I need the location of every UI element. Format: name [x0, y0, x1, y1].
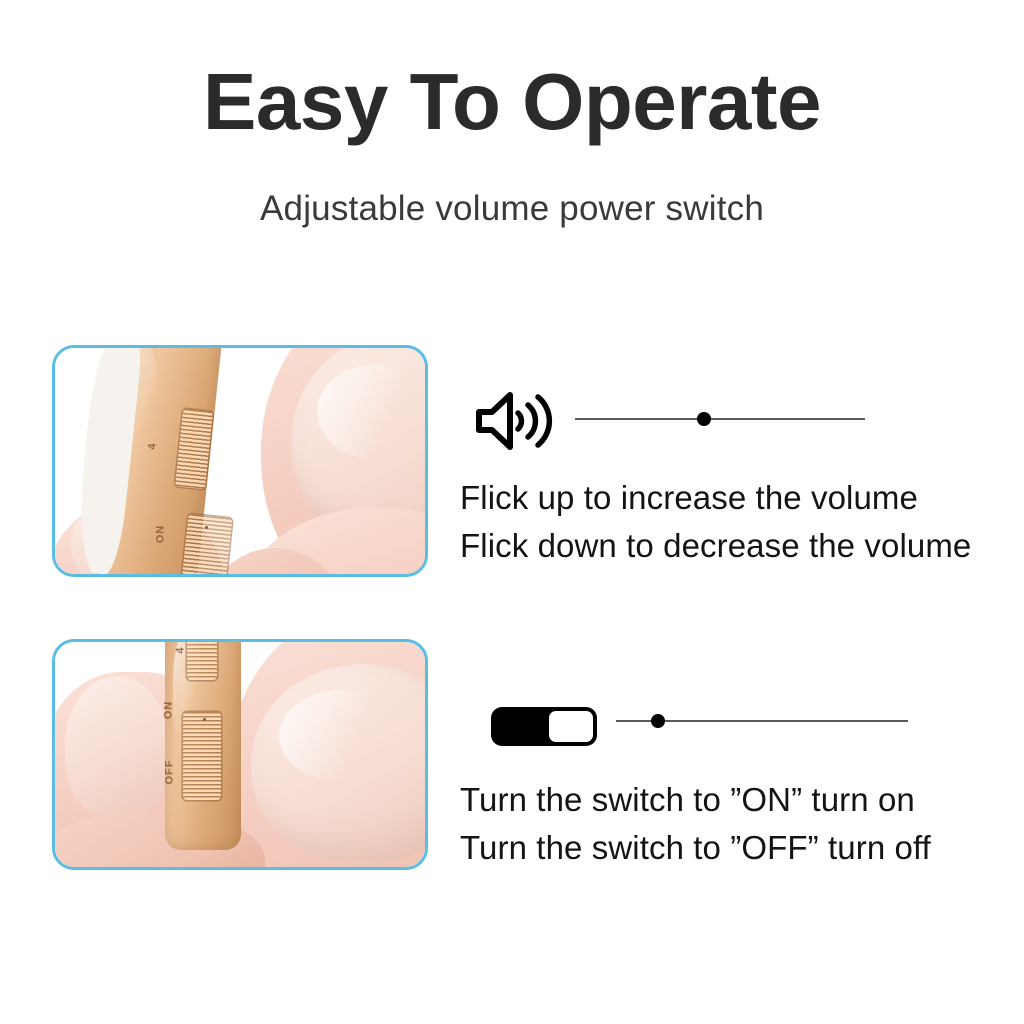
power-line-1: Turn the switch to ”ON” turn on — [460, 776, 931, 824]
power-slider[interactable] — [616, 714, 908, 728]
device-on-label-2: ON — [162, 701, 174, 720]
toggle-switch-icon[interactable] — [491, 707, 597, 746]
power-slider-knob[interactable] — [651, 714, 665, 728]
volume-slider-knob[interactable] — [697, 412, 711, 426]
toggle-switch-knob — [549, 711, 593, 742]
power-switch — [183, 712, 221, 800]
page-subtitle: Adjustable volume power switch — [0, 188, 1024, 230]
device-on-label: ON — [154, 525, 166, 544]
photo-frame-volume: 4 ON — [52, 345, 428, 577]
power-instruction-text: Turn the switch to ”ON” turn on Turn the… — [460, 776, 931, 872]
page-title: Easy To Operate — [0, 60, 1024, 144]
volume-slider[interactable] — [575, 412, 865, 426]
infographic-page: Easy To Operate Adjustable volume power … — [0, 0, 1024, 1024]
volume-line-1: Flick up to increase the volume — [460, 474, 971, 522]
volume-slider-track — [575, 418, 865, 420]
volume-instruction-text: Flick up to increase the volume Flick do… — [460, 474, 971, 570]
photo-volume: 4 ON — [55, 348, 425, 574]
volume-line-2: Flick down to decrease the volume — [460, 522, 971, 570]
device-off-label: OFF — [164, 760, 176, 785]
photo-frame-power: 4 ON OFF — [52, 639, 428, 870]
power-line-2: Turn the switch to ”OFF” turn off — [460, 824, 931, 872]
photo-power: 4 ON OFF — [55, 642, 425, 867]
speaker-volume-icon — [474, 390, 560, 452]
